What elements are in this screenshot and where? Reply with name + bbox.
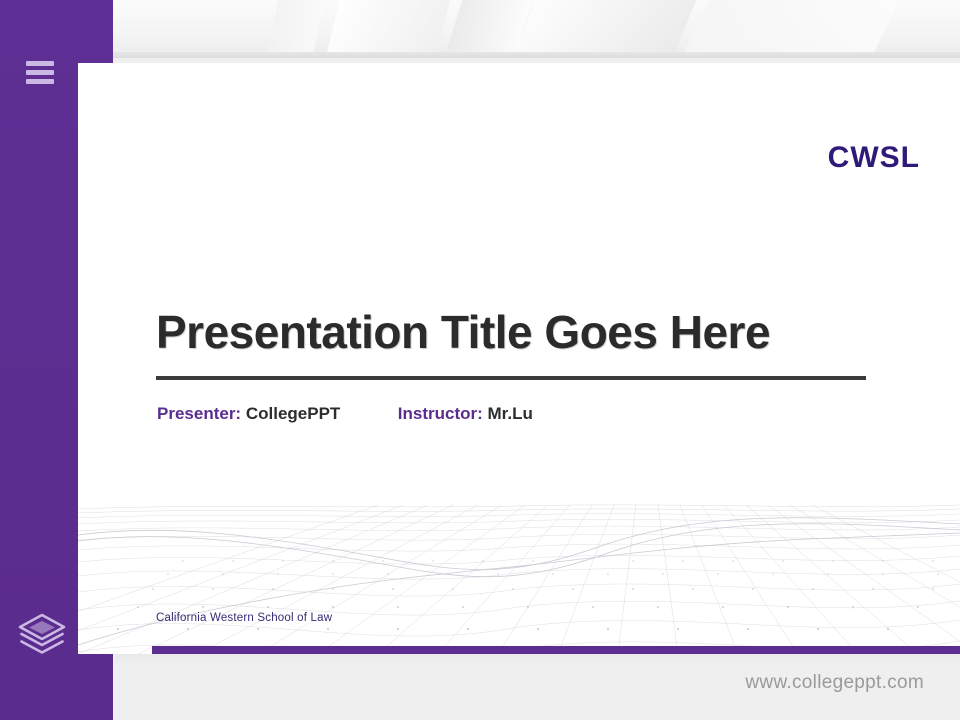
hamburger-bar-1 [26, 61, 54, 66]
ribbon-shape-1 [249, 0, 338, 58]
top-band-base-line [0, 52, 960, 58]
hamburger-bar-3 [26, 79, 54, 84]
site-watermark: www.collegeppt.com [745, 672, 924, 694]
hamburger-menu-icon[interactable] [26, 59, 54, 85]
layers-stack-icon[interactable] [14, 606, 70, 662]
presenter-instructor-line: Presenter: CollegePPT Instructor: Mr.Lu [157, 404, 533, 424]
wireframe-terrain-graphic [78, 479, 960, 654]
cwsl-logo: CWSL [828, 141, 920, 175]
school-name: California Western School of Law [156, 612, 332, 624]
hamburger-bar-2 [26, 70, 54, 75]
instructor-label: Instructor: [398, 404, 483, 423]
slide-bottom-accent-bar [152, 646, 960, 654]
page-title: Presentation Title Goes Here [156, 308, 871, 356]
screen-root: www.collegeppt.com [0, 0, 960, 720]
top-decorative-band [0, 0, 960, 58]
presentation-slide: CWSL Presentation Title Goes Here Presen… [78, 63, 960, 654]
ribbon-shape-2 [305, 0, 465, 58]
bottom-strip-edge [113, 654, 115, 720]
presenter-label: Presenter: [157, 404, 241, 423]
instructor-value: Mr.Lu [488, 404, 533, 423]
title-underline-rule [156, 376, 866, 380]
presenter-value: CollegePPT [246, 404, 340, 423]
